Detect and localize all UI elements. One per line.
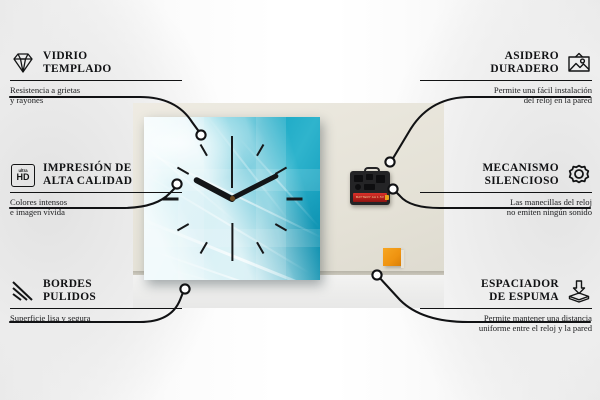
feature-title: IMPRESIÓN DE ALTA CALIDAD [43,162,132,189]
feature-title: MECANISMO SILENCIOSO [482,162,559,189]
feature-desc: Permite mantener una distancia uniforme … [420,313,592,334]
infographic-stage: BATTERY AA 1.5V [0,0,600,400]
feature-title: ASIDERO DURADERO [490,50,559,77]
foam-spacer-icon [566,279,592,303]
divider [420,192,592,193]
feature-title: BORDES PULIDOS [43,278,96,305]
feature-title: ESPACIADOR DE ESPUMA [481,278,559,305]
feature-impresion-alta-calidad: ultra HD IMPRESIÓN DE ALTA CALIDAD Color… [10,162,182,218]
divider [10,308,182,309]
feature-espaciador-de-espuma: ESPACIADOR DE ESPUMA Permite mantener un… [420,278,592,334]
divider [10,80,182,81]
picture-hanger-icon [566,51,592,75]
connector-dot [385,157,394,166]
divider [10,192,182,193]
feature-title: VIDRIO TEMPLADO [43,50,112,77]
feature-desc: Las manecillas del reloj no emiten ningú… [420,197,592,218]
connector-dot [388,184,397,193]
ultra-hd-icon: ultra HD [10,163,36,187]
feature-desc: Permite una fácil instalación del reloj … [420,85,592,106]
feature-asidero-duradero: ASIDERO DURADERO Permite una fácil insta… [420,50,592,106]
diamond-icon [10,51,36,75]
beveled-edges-icon [10,279,36,303]
feature-mecanismo-silencioso: MECANISMO SILENCIOSO Las manecillas del … [420,162,592,218]
connector-dot [372,270,381,279]
feature-bordes-pulidos: BORDES PULIDOS Superficie lisa y segura [10,278,182,323]
divider [420,308,592,309]
connector-dot [196,130,205,139]
divider [420,80,592,81]
feature-desc: Resistencia a grietas y rayones [10,85,182,106]
gear-icon [566,163,592,187]
feature-desc: Superficie lisa y segura [10,313,182,324]
feature-vidrio-templado: VIDRIO TEMPLADO Resistencia a grietas y … [10,50,182,106]
feature-desc: Colores intensos e imagen vívida [10,197,182,218]
